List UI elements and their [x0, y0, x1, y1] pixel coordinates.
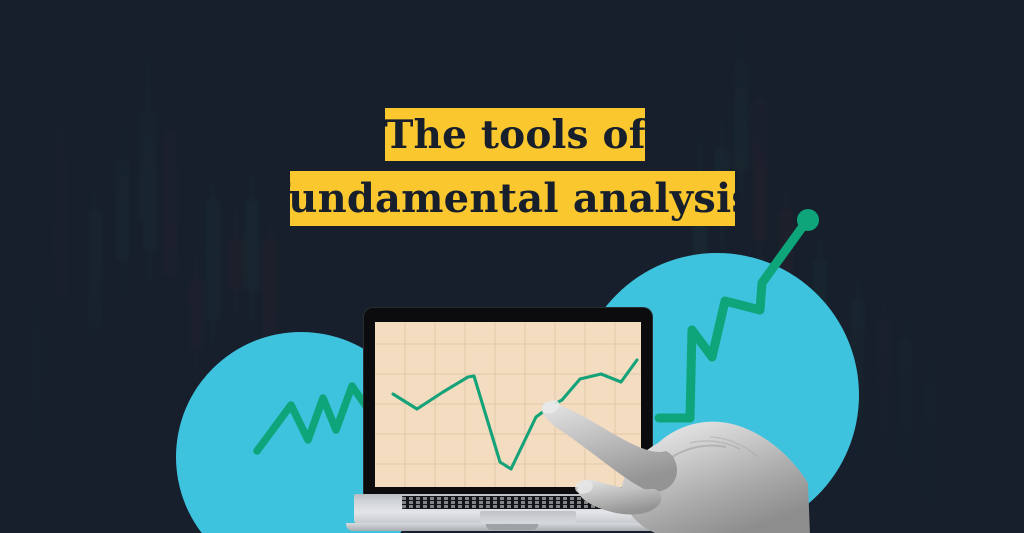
pointing-hand — [540, 385, 810, 533]
poster-canvas: The tools of fundamental analysis — [0, 0, 1024, 533]
title-banner-line-1: The tools of — [385, 108, 645, 161]
title-banner-line-2: fundamental analysis — [290, 171, 735, 226]
laptop-lid-notch — [486, 524, 538, 530]
